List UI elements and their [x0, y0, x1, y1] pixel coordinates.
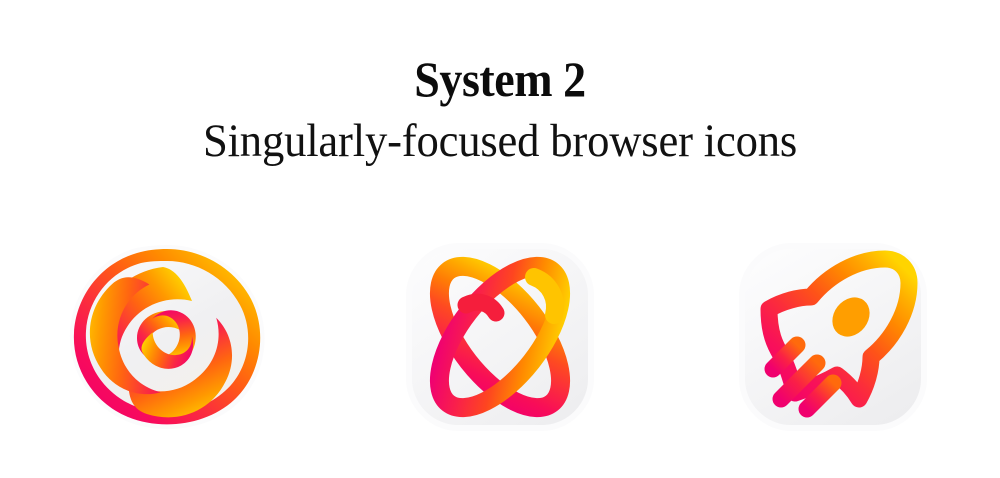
spiral-shutter-icon[interactable]	[62, 237, 272, 437]
icon-slot-atom[interactable]: Atom orbit	[350, 227, 650, 447]
rocket-icon[interactable]	[733, 237, 933, 437]
heading-block: System 2 Singularly-focused browser icon…	[0, 0, 1000, 165]
atom-orbit-icon[interactable]	[400, 237, 600, 437]
icon-gallery: Spiral shutter	[0, 222, 1000, 452]
page-title: System 2	[40, 54, 960, 104]
icon-slot-spiral[interactable]: Spiral shutter	[17, 227, 317, 447]
page-subtitle: Singularly-focused browser icons	[25, 104, 975, 165]
icon-slot-rocket[interactable]: Rocket	[683, 227, 983, 447]
icon-showcase-page: System 2 Singularly-focused browser icon…	[0, 0, 1000, 478]
